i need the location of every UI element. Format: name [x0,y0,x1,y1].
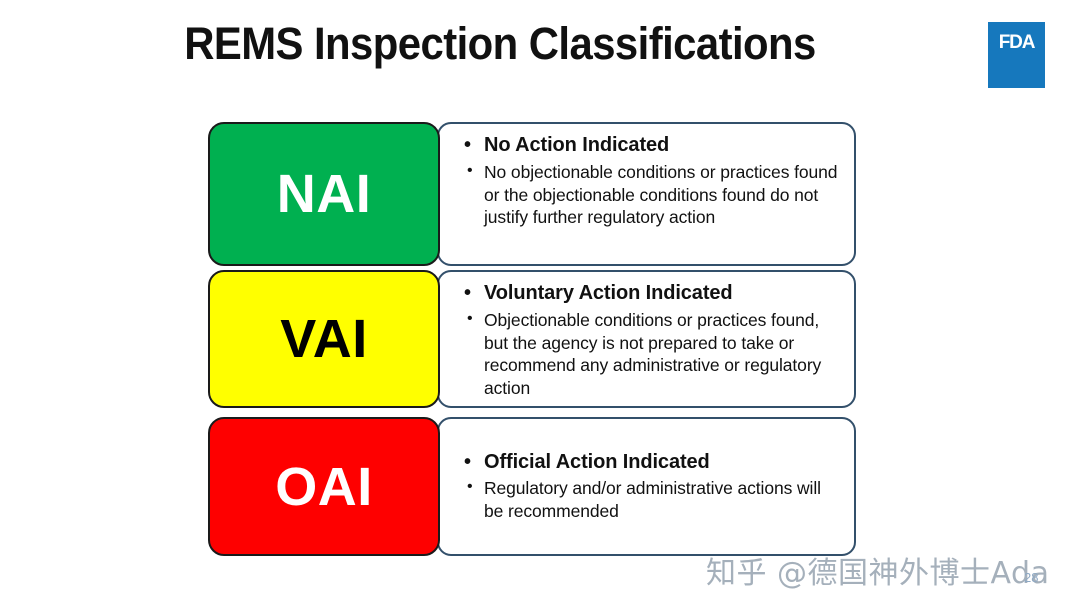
classification-code-box: OAI [208,417,440,556]
classification-row: No Action Indicated No objectionable con… [208,122,856,266]
classification-heading: No Action Indicated [463,133,840,159]
classification-description: No objectionable conditions or practices… [463,161,840,230]
classification-code-label: VAI [280,312,368,366]
description-box: Voluntary Action Indicated Objectionable… [437,270,856,408]
description-box: No Action Indicated No objectionable con… [437,122,856,266]
classification-description: Regulatory and/or administrative actions… [463,477,840,523]
classification-code-label: NAI [277,167,372,221]
classification-row: Voluntary Action Indicated Objectionable… [208,270,856,408]
classification-code-box: NAI [208,122,440,266]
classification-heading: Voluntary Action Indicated [463,281,840,307]
classification-code-label: OAI [275,460,373,514]
classification-list: No Action Indicated No objectionable con… [0,0,1080,607]
description-box: Official Action Indicated Regulatory and… [437,417,856,556]
slide-number: 28 [1024,570,1038,585]
classification-row: Official Action Indicated Regulatory and… [208,417,856,556]
classification-code-box: VAI [208,270,440,408]
classification-description: Objectionable conditions or practices fo… [463,309,840,401]
slide-canvas: REMS Inspection Classifications FDA No A… [0,0,1080,607]
classification-heading: Official Action Indicated [463,450,840,476]
